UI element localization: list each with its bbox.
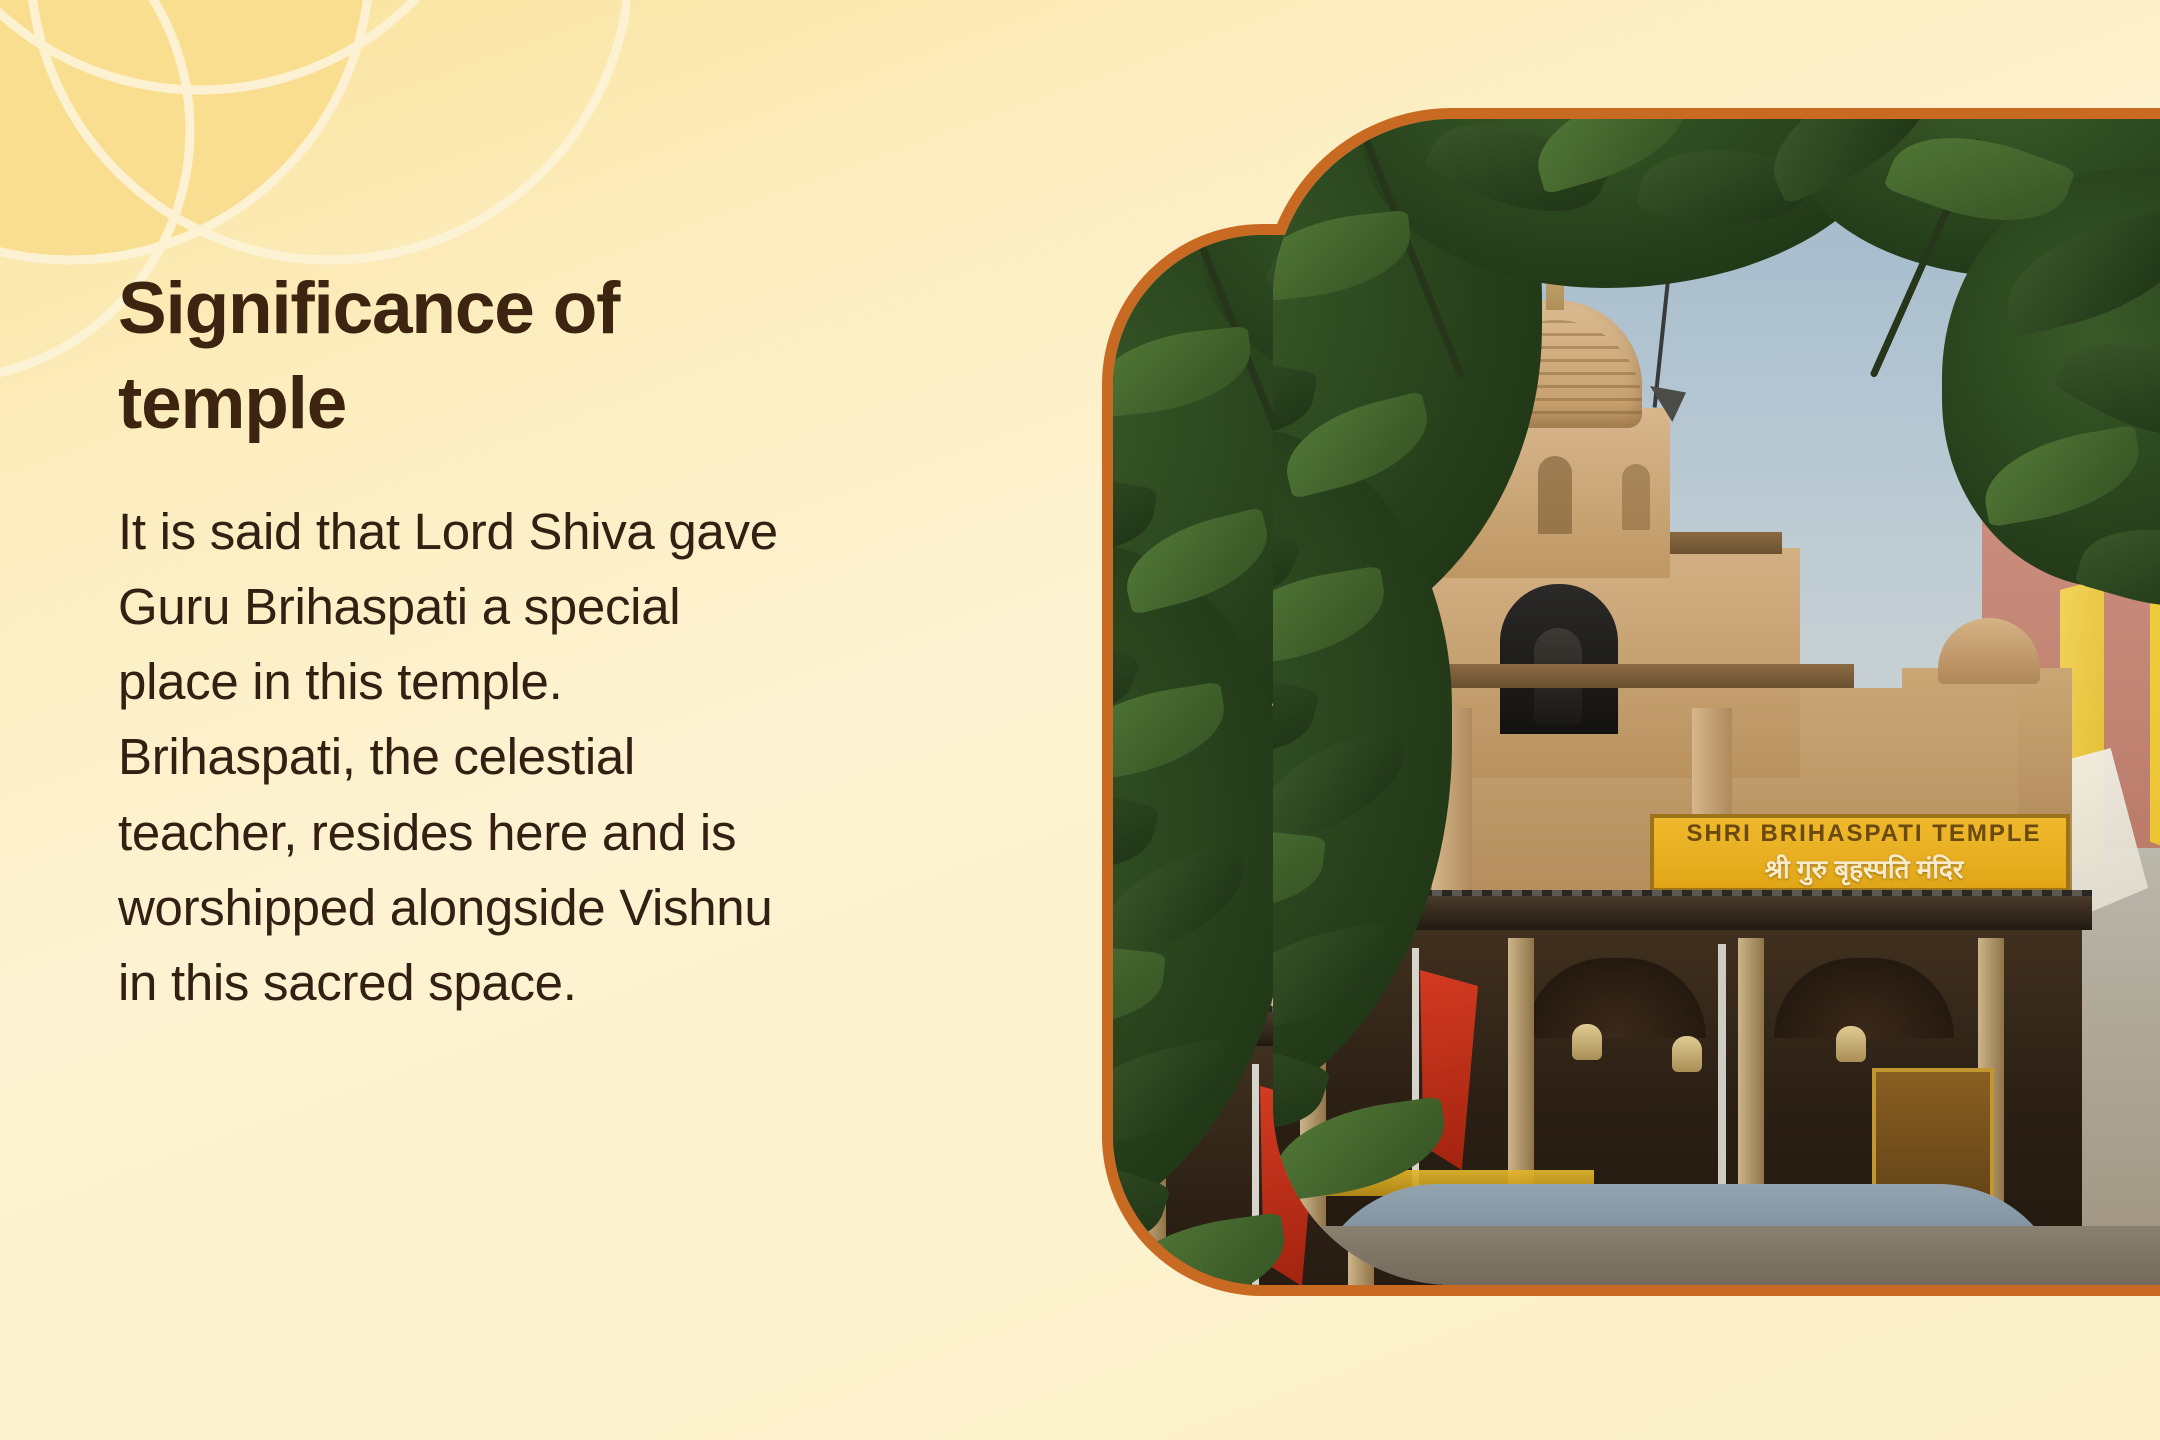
slide-canvas: Significance of temple It is said that L… — [0, 0, 2160, 1440]
signboard-line1-dup: SHRI BRIHASPATI TEMPLE — [1664, 820, 2064, 848]
body-paragraph: It is said that Lord Shiva gave Guru Bri… — [118, 494, 798, 1021]
temple-photograph-b: VELLవెంకటే — [1273, 119, 2160, 1285]
signboard-line2-dup: श्री गुरु बृहस्पति मंदिर — [1664, 850, 2064, 886]
page-title: Significance of temple — [118, 262, 678, 452]
text-column: Significance of temple It is said that L… — [118, 262, 818, 1020]
photo-clip-b: VELLవెంకటే — [1273, 119, 2160, 1285]
temple-photo-frame: VELLవెంకటే — [1102, 108, 2160, 1296]
